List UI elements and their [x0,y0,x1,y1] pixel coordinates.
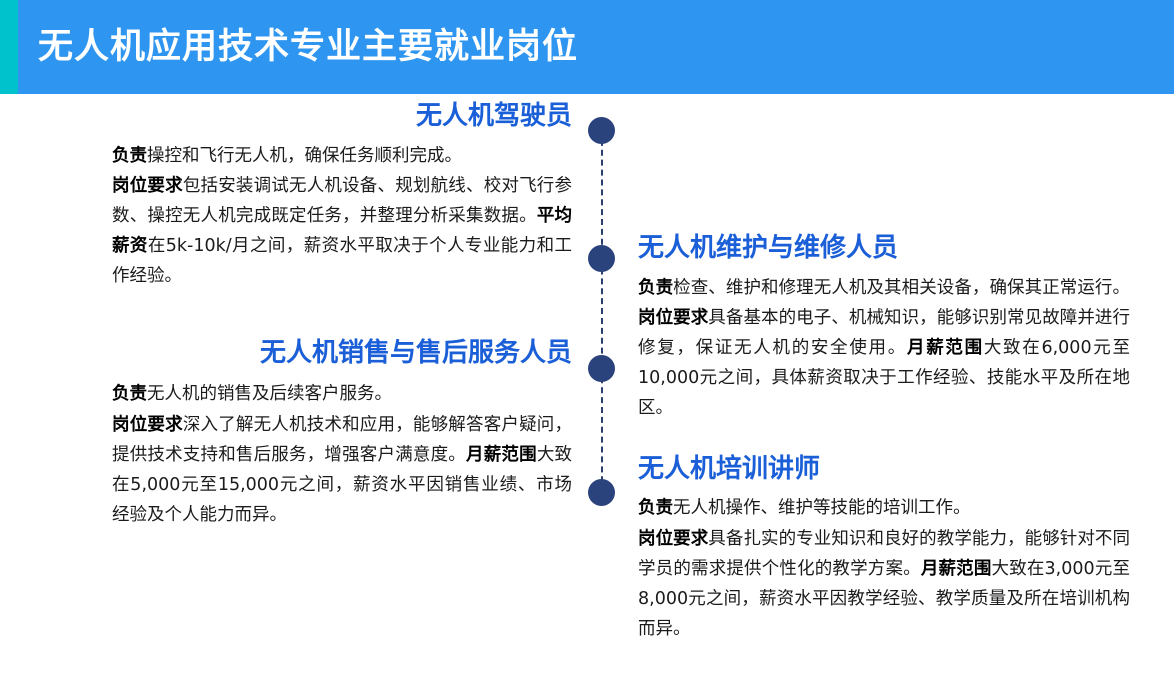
job-paragraph: 负责无人机的销售及后续客户服务。 [112,379,572,409]
job-heading-maintenance-repair: 无人机维护与维修人员 [638,232,1130,265]
emphasis-label: 岗位要求 [112,415,183,435]
job-block-training-instructor: 无人机培训讲师 负责无人机操作、维护等技能的培训工作。岗位要求具备扎实的专业知识… [638,453,1130,644]
timeline [588,110,616,510]
emphasis-label: 月薪范围 [921,559,992,579]
job-block-sales-aftersales: 无人机销售与售后服务人员 负责无人机的销售及后续客户服务。岗位要求深入了解无人机… [112,337,572,530]
timeline-dot-2 [588,245,615,272]
job-body-sales-aftersales: 负责无人机的销售及后续客户服务。岗位要求深入了解无人机技术和应用，能够解答客户疑… [112,379,572,529]
job-paragraph: 岗位要求具备扎实的专业知识和良好的教学能力，能够针对不同学员的需求提供个性化的教… [638,524,1130,644]
emphasis-label: 岗位要求 [638,308,708,328]
job-body-maintenance-repair: 负责检查、维护和修理无人机及其相关设备，确保其正常运行。岗位要求具备基本的电子、… [638,273,1130,423]
job-body-training-instructor: 负责无人机操作、维护等技能的培训工作。岗位要求具备扎实的专业知识和良好的教学能力… [638,493,1130,643]
right-column: 无人机维护与维修人员 负责检查、维护和修理无人机及其相关设备，确保其正常运行。岗… [638,232,1130,644]
job-paragraph: 负责操控和飞行无人机，确保任务顺利完成。 [112,141,572,171]
page-title: 无人机应用技术专业主要就业岗位 [38,0,578,94]
job-heading-sales-aftersales: 无人机销售与售后服务人员 [112,337,572,370]
job-paragraph: 岗位要求包括安装调试无人机设备、规划航线、校对飞行参数、操控无人机完成既定任务，… [112,171,572,291]
emphasis-label: 月薪范围 [466,445,537,465]
emphasis-label: 负责 [112,146,147,166]
emphasis-label: 负责 [638,278,673,298]
emphasis-label: 负责 [638,498,673,518]
job-body-drone-pilot: 负责操控和飞行无人机，确保任务顺利完成。岗位要求包括安装调试无人机设备、规划航线… [112,141,572,291]
job-block-drone-pilot: 无人机驾驶员 负责操控和飞行无人机，确保任务顺利完成。岗位要求包括安装调试无人机… [112,100,572,291]
emphasis-label: 负责 [112,384,147,404]
job-heading-drone-pilot: 无人机驾驶员 [112,100,572,133]
job-paragraph: 岗位要求深入了解无人机技术和应用，能够解答客户疑问，提供技术支持和售后服务，增强… [112,410,572,530]
emphasis-label: 岗位要求 [112,176,183,196]
job-block-maintenance-repair: 无人机维护与维修人员 负责检查、维护和修理无人机及其相关设备，确保其正常运行。岗… [638,232,1130,423]
timeline-dot-3 [588,355,615,382]
body-run: 检查、维护和修理无人机及其相关设备，确保其正常运行。 [673,278,1130,298]
timeline-dot-4 [588,479,615,506]
emphasis-label: 岗位要求 [638,529,708,549]
header-accent-bar [0,0,18,94]
timeline-dot-1 [588,117,615,144]
body-run: 无人机操作、维护等技能的培训工作。 [673,498,971,518]
emphasis-label: 月薪范围 [907,338,984,358]
timeline-dashed-connector [601,130,603,502]
header-banner: 无人机应用技术专业主要就业岗位 [0,0,1174,94]
left-column: 无人机驾驶员 负责操控和飞行无人机，确保任务顺利完成。岗位要求包括安装调试无人机… [112,100,572,530]
body-run: 操控和飞行无人机，确保任务顺利完成。 [147,146,462,166]
job-heading-training-instructor: 无人机培训讲师 [638,453,1130,486]
body-run: 无人机的销售及后续客户服务。 [147,384,392,404]
job-paragraph: 负责无人机操作、维护等技能的培训工作。 [638,493,1130,523]
job-paragraph: 负责检查、维护和修理无人机及其相关设备，确保其正常运行。岗位要求具备基本的电子、… [638,273,1130,423]
body-run: 在5k-10k/月之间，薪资水平取决于个人专业能力和工作经验。 [112,236,572,286]
